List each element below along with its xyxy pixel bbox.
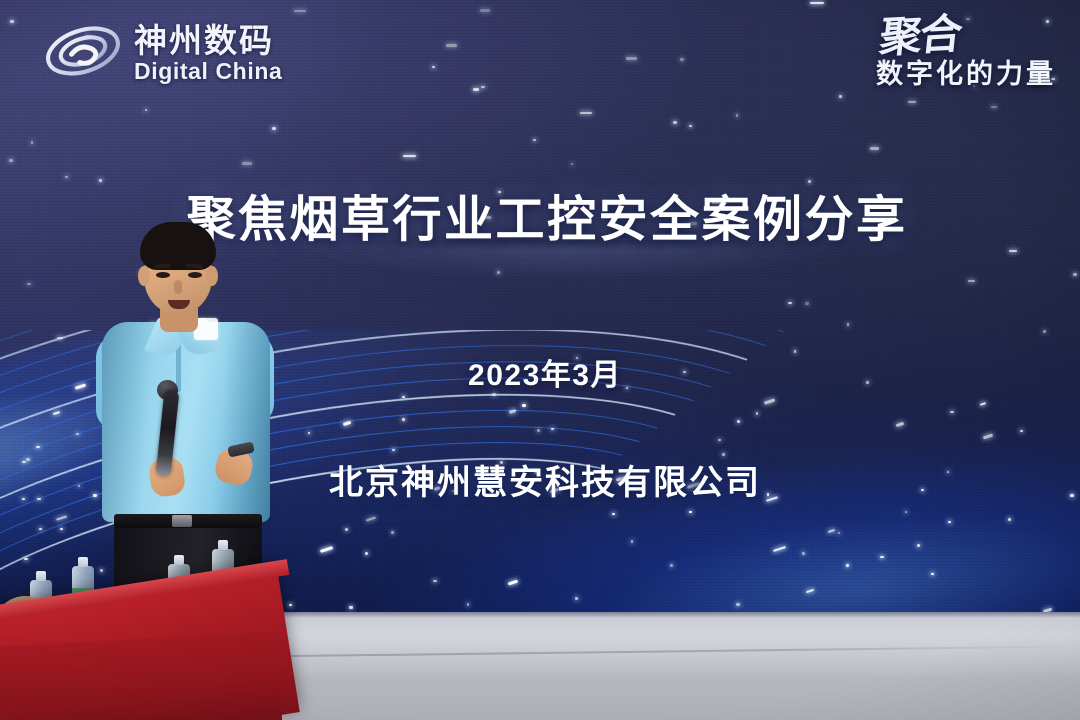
sparkle-particle bbox=[991, 106, 997, 108]
sparkle-particle bbox=[847, 323, 849, 326]
title-glow bbox=[300, 246, 840, 280]
sparkle-particle bbox=[272, 127, 276, 130]
sparkle-particle bbox=[680, 58, 684, 61]
sparkle-particle bbox=[839, 95, 842, 98]
sparkle-particle bbox=[242, 162, 252, 165]
presenter-shirt-shading bbox=[102, 322, 270, 522]
sparkle-particle bbox=[626, 57, 637, 60]
sparkle-particle bbox=[31, 141, 33, 144]
sparkle-particle bbox=[571, 163, 573, 165]
sparkle-particle bbox=[145, 109, 147, 111]
sparkle-particle bbox=[673, 121, 677, 124]
foreground-table-lower bbox=[0, 632, 282, 720]
sparkle-particle bbox=[788, 302, 792, 304]
sparkle-particle bbox=[736, 114, 738, 117]
presenter-belt-buckle bbox=[172, 515, 192, 527]
presenter-eye-right bbox=[188, 272, 202, 278]
sparkle-particle bbox=[810, 2, 824, 4]
sparkle-particle bbox=[403, 155, 416, 157]
sparkle-particle bbox=[533, 139, 536, 141]
sparkle-particle bbox=[689, 125, 692, 127]
brand-lockup: 神州数码 Digital China bbox=[42, 18, 282, 84]
sparkle-particle bbox=[497, 271, 500, 274]
sparkle-particle bbox=[294, 10, 306, 12]
sparkle-particle bbox=[870, 147, 879, 150]
sparkle-particle bbox=[446, 44, 457, 47]
brand-text: 神州数码 Digital China bbox=[134, 18, 282, 83]
sparkle-particle bbox=[908, 101, 916, 103]
theme-calligraphy: 聚合 bbox=[878, 14, 963, 58]
sparkle-particle bbox=[1073, 273, 1077, 276]
stage-photo-scene: 神州数码 Digital China 聚合 数字化的力量 聚焦烟草行业工控安全案… bbox=[0, 0, 1080, 720]
brand-name-en: Digital China bbox=[134, 60, 282, 83]
presenter-hair bbox=[140, 222, 216, 270]
sparkle-particle bbox=[968, 280, 975, 282]
sparkle-particle bbox=[65, 176, 68, 178]
sparkle-particle bbox=[473, 88, 479, 91]
presenter bbox=[92, 222, 282, 622]
sparkle-particle bbox=[10, 20, 14, 23]
sparkle-particle bbox=[27, 283, 31, 285]
sparkle-particle bbox=[481, 86, 485, 88]
presenter-eye-left bbox=[156, 272, 170, 278]
sparkle-particle bbox=[580, 112, 592, 114]
digital-china-spiral-icon bbox=[42, 18, 124, 84]
brand-name-cn: 神州数码 bbox=[134, 24, 282, 57]
presenter-nose bbox=[174, 280, 182, 294]
presenter-ear-right bbox=[206, 266, 218, 286]
sparkle-particle bbox=[805, 302, 809, 305]
presenter-ear-left bbox=[138, 266, 150, 286]
event-theme: 聚合 数字化的力量 bbox=[876, 16, 1056, 91]
sparkle-particle bbox=[432, 66, 435, 68]
sparkle-particle bbox=[480, 9, 490, 12]
sparkle-particle bbox=[9, 159, 13, 162]
